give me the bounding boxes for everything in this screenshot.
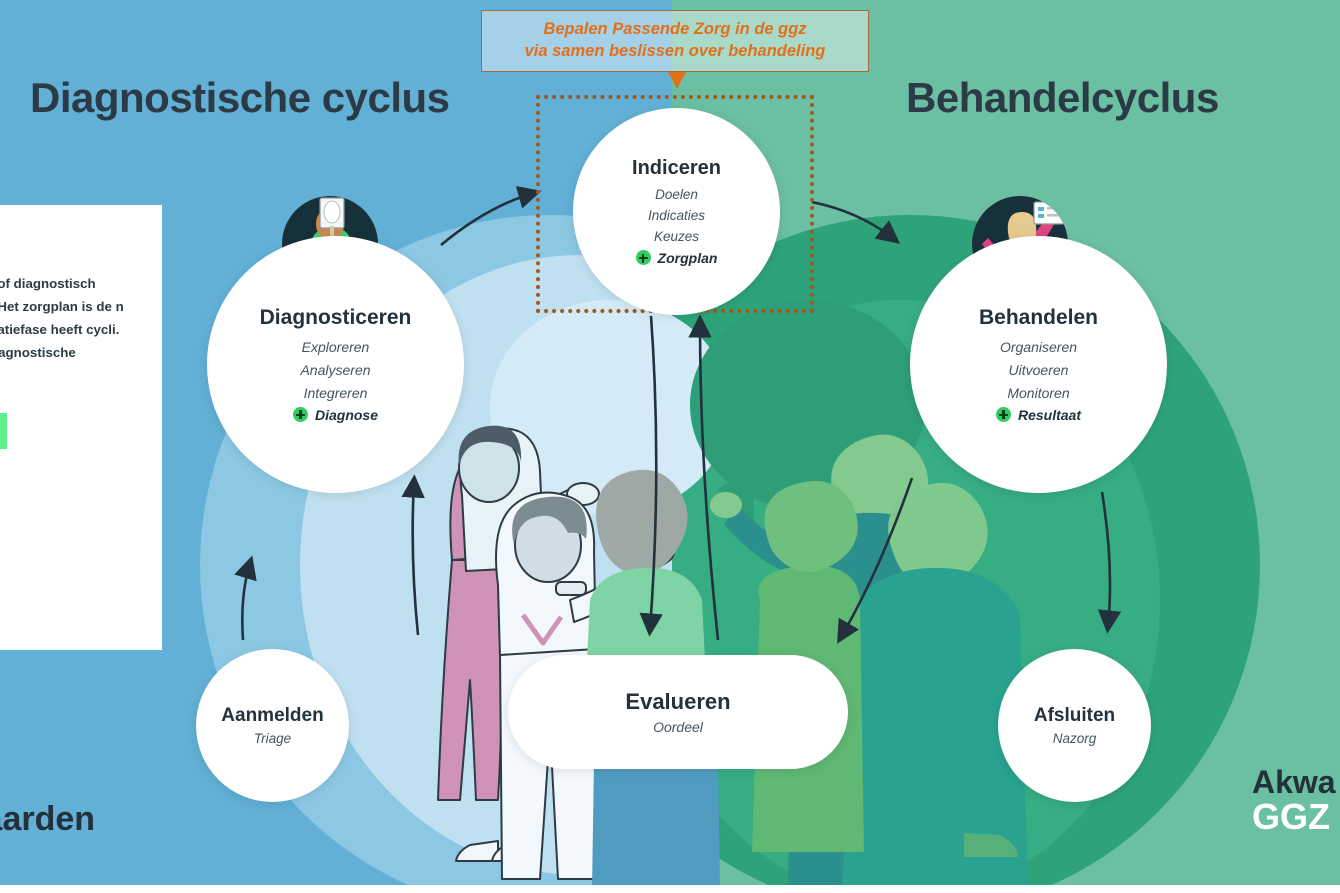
node-evalueren[interactable]: Evalueren Oordeel	[508, 655, 848, 769]
node-indiceren-item-2: Keuzes	[654, 227, 699, 248]
plus-icon	[996, 407, 1011, 422]
brand-akwa: Akwa	[1252, 766, 1336, 798]
node-behandelen-outcome-label: Resultaat	[1018, 407, 1081, 423]
plus-icon	[293, 407, 308, 422]
node-diagnosticeren-item-1: Analyseren	[300, 359, 370, 382]
speech-bubble-right-tail	[718, 465, 754, 539]
node-indiceren[interactable]: Indiceren Doelen Indicaties Keuzes Zorgp…	[573, 108, 780, 315]
brand-right: Akwa GGZ	[1252, 766, 1336, 836]
node-behandelen-title: Behandelen	[979, 306, 1098, 330]
node-indiceren-outcome-label: Zorgplan	[658, 250, 718, 266]
node-indiceren-item-0: Doelen	[655, 185, 698, 206]
plus-icon	[636, 250, 651, 265]
callout-arrow-icon	[668, 72, 686, 89]
node-diagnosticeren[interactable]: Diagnosticeren Exploreren Analyseren Int…	[207, 236, 464, 493]
node-aanmelden[interactable]: Aanmelden Triage	[196, 649, 349, 802]
node-aanmelden-title: Aanmelden	[221, 705, 323, 727]
brand-ggz: GGZ	[1252, 798, 1336, 836]
bottom-edge	[0, 885, 1340, 893]
node-evalueren-title: Evalueren	[625, 689, 730, 715]
node-afsluiten-subtitle: Nazorg	[1053, 731, 1097, 746]
node-evalueren-subtitle: Oordeel	[653, 719, 703, 735]
node-behandelen-item-2: Monitoren	[1007, 382, 1069, 405]
callout-box: Bepalen Passende Zorg in de ggz via same…	[481, 10, 869, 72]
brand-left: ndaarden	[0, 800, 95, 839]
node-behandelen-item-1: Uitvoeren	[1009, 359, 1069, 382]
node-indiceren-title: Indiceren	[632, 157, 721, 180]
info-panel-body: estaat uit een clus (of diagnostisch eha…	[0, 273, 140, 387]
node-aanmelden-subtitle: Triage	[254, 731, 291, 746]
node-behandelen-item-0: Organiseren	[1000, 336, 1077, 359]
callout-line-1: Bepalen Passende Zorg in de ggz	[543, 19, 806, 41]
node-indiceren-item-1: Indicaties	[648, 206, 705, 227]
node-diagnosticeren-item-2: Integreren	[304, 382, 368, 405]
info-panel-title: es	[0, 231, 140, 257]
node-diagnosticeren-item-0: Exploreren	[302, 336, 370, 359]
node-afsluiten[interactable]: Afsluiten Nazorg	[998, 649, 1151, 802]
info-panel-button[interactable]: stiek bekijken	[0, 413, 7, 449]
node-afsluiten-title: Afsluiten	[1034, 705, 1115, 727]
page-title-right: Behandelcyclus	[906, 74, 1219, 122]
node-diagnosticeren-outcome: Diagnose	[293, 407, 378, 423]
node-behandelen-outcome: Resultaat	[996, 407, 1081, 423]
info-panel: es estaat uit een clus (of diagnostisch …	[0, 205, 162, 650]
node-diagnosticeren-title: Diagnosticeren	[260, 306, 412, 330]
page-title-left: Diagnostische cyclus	[30, 74, 450, 122]
node-indiceren-outcome: Zorgplan	[636, 250, 718, 266]
infographic-canvas: Diagnostische cyclus Behandelcyclus Bepa…	[0, 0, 1340, 893]
callout-line-2: via samen beslissen over behandeling	[525, 41, 826, 63]
node-behandelen[interactable]: Behandelen Organiseren Uitvoeren Monitor…	[910, 236, 1167, 493]
node-diagnosticeren-outcome-label: Diagnose	[315, 407, 378, 423]
